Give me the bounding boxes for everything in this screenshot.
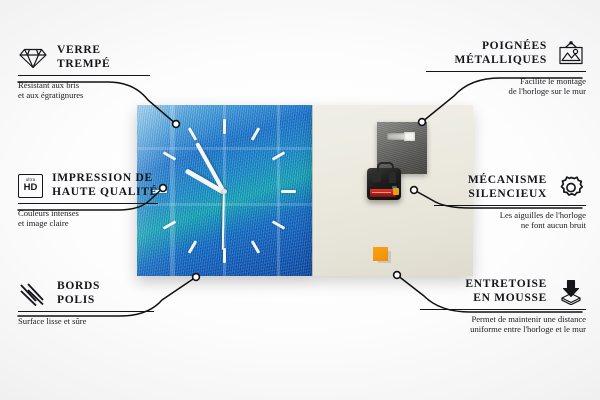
- artwork-line: [277, 105, 280, 276]
- callout-divider: [18, 75, 150, 76]
- hour-marker: [281, 190, 296, 193]
- mechanism-hanger-loop: [377, 162, 394, 172]
- mechanism-detail: [372, 173, 381, 182]
- callout-divider: [18, 203, 158, 204]
- callout-subtitle-line: uniforme entre l'horloge et le mur: [420, 324, 586, 335]
- ultra-hd-icon-main-text: HD: [24, 183, 38, 193]
- callout-subtitle-line: Résistant aux bris: [18, 80, 150, 91]
- battery-terminal: [393, 188, 399, 195]
- gear-icon: [556, 175, 586, 201]
- hour-marker: [163, 151, 177, 161]
- callout-title: POIGNÉES MÉTALLIQUES: [455, 40, 547, 67]
- callout-subtitle-line: Les aiguilles de l'horloge: [434, 210, 586, 221]
- callout-subtitle-line: et aux égratignures: [18, 90, 150, 101]
- callout-title: IMPRESSION DE HAUTE QUALITÉ: [52, 172, 158, 199]
- second-hand: [222, 192, 225, 250]
- callout-header: BORDS POLIS: [18, 280, 154, 307]
- callout-divider: [18, 311, 154, 312]
- clock-front-panel: [137, 105, 312, 276]
- hanger-slot-hole: [404, 132, 415, 141]
- callout-subtitle-line: Couleurs intenses: [18, 208, 158, 219]
- hour-marker: [188, 240, 198, 254]
- callout-subtitle-line: Permet de maintenir une distance: [420, 314, 586, 325]
- callout-mecanisme-silencieux: MÉCANISME SILENCIEUX Les aiguilles de l'…: [434, 174, 586, 231]
- foam-spacer: [373, 247, 388, 261]
- callout-title: VERRE TREMPÉ: [57, 44, 110, 71]
- callout-title: ENTRETOISE EN MOUSSE: [465, 278, 547, 305]
- hour-marker: [223, 248, 226, 263]
- callout-title: MÉCANISME SILENCIEUX: [468, 174, 547, 201]
- artwork-line: [223, 105, 226, 276]
- callout-entretoise-en-mousse: ENTRETOISE EN MOUSSE Permet de maintenir…: [420, 278, 586, 335]
- hanging-frame-icon: [556, 41, 586, 67]
- callout-header: ENTRETOISE EN MOUSSE: [420, 278, 586, 305]
- hour-marker: [163, 220, 177, 230]
- battery: [370, 189, 396, 197]
- callout-header: POIGNÉES MÉTALLIQUES: [426, 40, 586, 67]
- callout-subtitle-line: ne font aucun bruit: [434, 220, 586, 231]
- down-arrow-foam-icon: [556, 279, 586, 305]
- polished-edges-icon: [18, 282, 48, 306]
- hour-marker: [251, 127, 261, 141]
- clock-hub: [222, 189, 227, 194]
- mechanism-detail: [389, 172, 396, 183]
- callout-divider: [420, 309, 586, 310]
- ultra-hd-icon: ultra HD: [18, 174, 43, 198]
- infographic-canvas: VERRE TREMPÉ Résistant aux bris et aux é…: [0, 0, 600, 400]
- callout-poignees-metalliques: POIGNÉES MÉTALLIQUES Facilite le montage…: [426, 40, 586, 97]
- minute-hand: [195, 142, 226, 193]
- hour-hand: [185, 168, 226, 194]
- product-image: [137, 105, 472, 276]
- artwork-line: [137, 147, 312, 150]
- callout-title: BORDS POLIS: [57, 280, 100, 307]
- hour-marker: [272, 151, 286, 161]
- callout-divider: [426, 71, 586, 72]
- callout-divider: [434, 205, 586, 206]
- callout-subtitle-line: Surface lisse et sûre: [18, 316, 154, 327]
- callout-verre-trempe: VERRE TREMPÉ Résistant aux bris et aux é…: [18, 44, 150, 101]
- hour-marker: [272, 220, 286, 230]
- quartz-mechanism: [367, 168, 401, 200]
- callout-subtitle-line: de l'horloge sur le mur: [426, 86, 586, 97]
- hour-marker: [251, 240, 261, 254]
- callout-header: MÉCANISME SILENCIEUX: [434, 174, 586, 201]
- callout-header: ultra HD IMPRESSION DE HAUTE QUALITÉ: [18, 172, 158, 199]
- callout-bords-polis: BORDS POLIS Surface lisse et sûre: [18, 280, 154, 326]
- callout-subtitle-line: Facilite le montage: [426, 76, 586, 87]
- artwork-line: [137, 203, 312, 206]
- callout-impression-haute-qualite: ultra HD IMPRESSION DE HAUTE QUALITÉ Cou…: [18, 172, 158, 229]
- artwork-line: [170, 105, 173, 276]
- callout-header: VERRE TREMPÉ: [18, 44, 150, 71]
- hour-marker: [188, 127, 198, 141]
- diamond-icon: [18, 46, 48, 70]
- hour-marker: [223, 119, 226, 134]
- callout-subtitle-line: et image claire: [18, 218, 158, 229]
